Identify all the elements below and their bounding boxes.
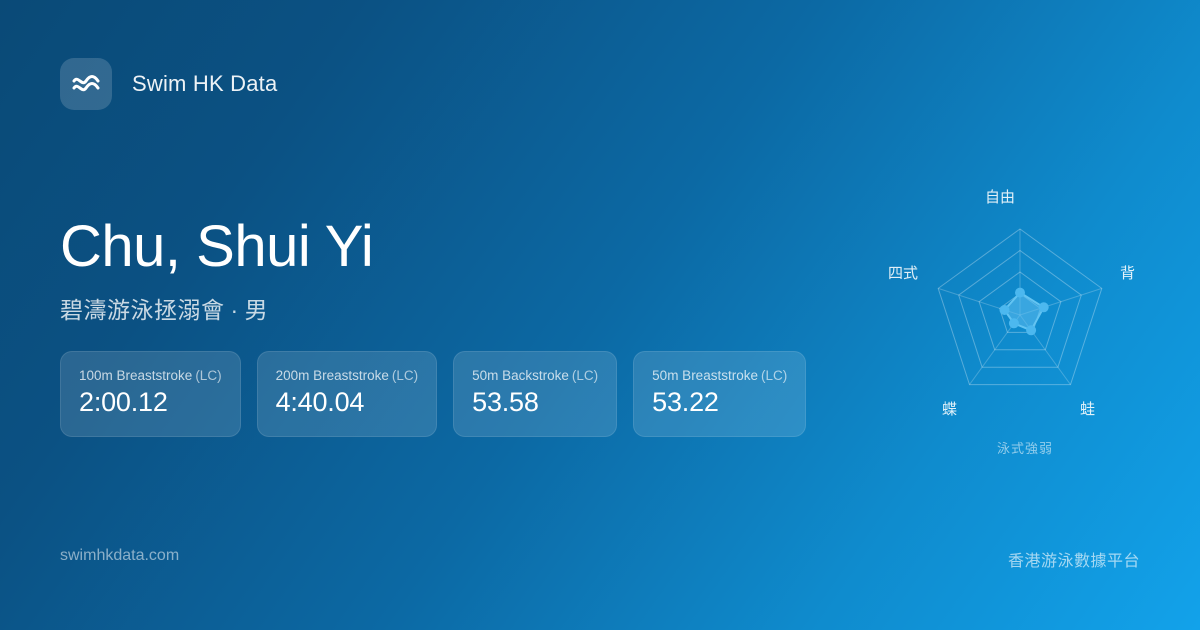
stat-card-event-name: 100m Breaststroke bbox=[79, 368, 192, 383]
stat-card-event: 100m Breaststroke(LC) bbox=[79, 368, 222, 383]
stat-card-course: (LC) bbox=[392, 368, 418, 383]
stat-card-course: (LC) bbox=[761, 368, 787, 383]
footer-tagline: 香港游泳數據平台 bbox=[1008, 547, 1140, 571]
stat-card: 50m Backstroke(LC) 53.58 bbox=[453, 351, 617, 437]
radar-data-point bbox=[1026, 325, 1036, 335]
stat-card-time: 4:40.04 bbox=[276, 387, 419, 418]
stat-card-event: 200m Breaststroke(LC) bbox=[276, 368, 419, 383]
meta-separator: · bbox=[225, 297, 245, 323]
share-card: Swim HK Data Chu, Shui Yi 碧濤游泳拯溺會·男 100m… bbox=[0, 0, 1200, 630]
stat-card-list: 100m Breaststroke(LC) 2:00.12 200m Breas… bbox=[60, 351, 806, 437]
athlete-meta: 碧濤游泳拯溺會·男 bbox=[60, 291, 373, 325]
radar-data-point bbox=[1039, 302, 1049, 312]
stat-card-event: 50m Backstroke(LC) bbox=[472, 368, 598, 383]
brand-name: Swim HK Data bbox=[132, 71, 277, 97]
stat-card-event-name: 50m Backstroke bbox=[472, 368, 569, 383]
stat-card-course: (LC) bbox=[195, 368, 221, 383]
athlete-gender: 男 bbox=[245, 297, 269, 323]
stat-card-time: 53.58 bbox=[472, 387, 598, 418]
stat-card-event-name: 200m Breaststroke bbox=[276, 368, 389, 383]
athlete-block: Chu, Shui Yi 碧濤游泳拯溺會·男 bbox=[60, 216, 373, 325]
stat-card: 200m Breaststroke(LC) 4:40.04 bbox=[257, 351, 438, 437]
stat-card: 50m Breaststroke(LC) 53.22 bbox=[633, 351, 806, 437]
radar-axis-label-back: 背 bbox=[1120, 262, 1135, 283]
stat-card-time: 53.22 bbox=[652, 387, 787, 418]
stat-card-course: (LC) bbox=[572, 368, 598, 383]
stat-card-event: 50m Breaststroke(LC) bbox=[652, 368, 787, 383]
radar-axis-label-fly: 蝶 bbox=[942, 398, 957, 419]
radar-data-point bbox=[1015, 288, 1025, 298]
radar-caption: 泳式強弱 bbox=[880, 438, 1170, 457]
radar-data-point bbox=[1009, 318, 1019, 328]
brand-header: Swim HK Data bbox=[60, 58, 277, 110]
stat-card-time: 2:00.12 bbox=[79, 387, 222, 418]
radar-axis-label-breast: 蛙 bbox=[1080, 398, 1095, 419]
stroke-radar-chart: 自由 背 蛙 蝶 四式 泳式強弱 bbox=[880, 170, 1170, 470]
stat-card-event-name: 50m Breaststroke bbox=[652, 368, 758, 383]
stat-card: 100m Breaststroke(LC) 2:00.12 bbox=[60, 351, 241, 437]
footer-site-url: swimhkdata.com bbox=[60, 547, 179, 565]
radar-data-point bbox=[1000, 305, 1010, 315]
radar-axis-label-im: 四式 bbox=[888, 262, 918, 283]
wave-icon bbox=[60, 58, 112, 110]
athlete-club: 碧濤游泳拯溺會 bbox=[60, 297, 225, 323]
radar-axis-label-free: 自由 bbox=[985, 186, 1015, 207]
page-title: Chu, Shui Yi bbox=[60, 216, 373, 279]
